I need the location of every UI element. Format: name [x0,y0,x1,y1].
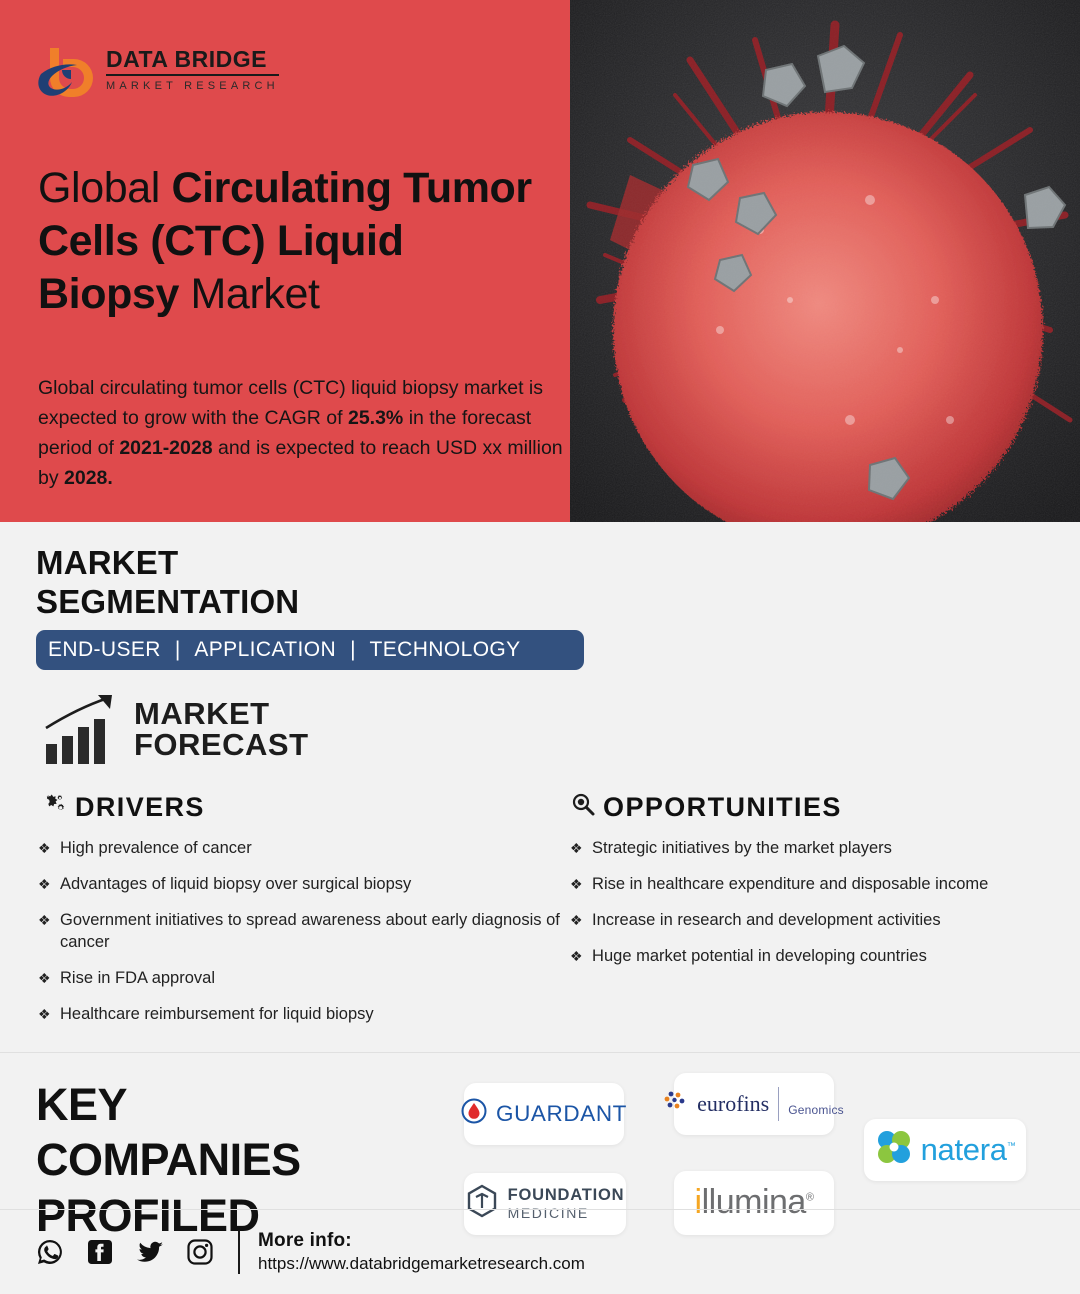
forecast-line1: MARKET [134,698,309,729]
hero-description: Global circulating tumor cells (CTC) liq… [38,373,563,493]
companies-heading-line1: KEY [36,1077,456,1133]
opportunities-list-item: ❖ Rise in healthcare expenditure and dis… [570,874,1044,896]
opportunities-item-text: Huge market potential in developing coun… [592,946,927,968]
segment-application[interactable]: APPLICATION [194,638,336,662]
eurofins-genomics-label: Genomics [788,1103,844,1121]
facebook-icon[interactable] [86,1238,114,1266]
segmentation-heading-line2: SEGMENTATION [36,583,1044,622]
drivers-list-item: ❖ Healthcare reimbursement for liquid bi… [38,1004,562,1026]
footer: More info: https://www.databridgemarketr… [0,1210,1080,1294]
segmentation-bar: END-USER | APPLICATION | TECHNOLOGY [36,630,584,670]
opportunities-item-text: Increase in research and development act… [592,910,941,932]
companies-heading-line2: COMPANIES [36,1132,456,1188]
brand-logo-text: DATA BRIDGE MARKET RESEARCH [106,46,279,92]
bullet-diamond-icon: ❖ [38,874,51,896]
bar-chart-growth-arrow-icon [42,692,124,766]
opportunities-heading-row: OPPORTUNITIES [570,792,1044,823]
market-forecast-block: MARKET FORECAST [36,692,1044,766]
bullet-diamond-icon: ❖ [38,1004,51,1026]
segment-end-user[interactable]: END-USER [48,638,161,662]
opportunities-list-item: ❖ Increase in research and development a… [570,910,1044,932]
hero-left-panel: DATA BRIDGE MARKET RESEARCH Global Circu… [0,0,570,522]
guardant-wordmark: GUARDANT [496,1101,627,1127]
whatsapp-icon[interactable] [36,1238,64,1266]
more-info-label: More info: [258,1229,585,1253]
drivers-item-text: Healthcare reimbursement for liquid biop… [60,1004,374,1026]
bullet-diamond-icon: ❖ [38,968,51,990]
body-section: MARKET SEGMENTATION END-USER | APPLICATI… [0,544,1080,1040]
opportunities-item-text: Rise in healthcare expenditure and dispo… [592,874,988,896]
guardant-droplet-icon [461,1098,487,1129]
drivers-list-item: ❖ Government initiatives to spread aware… [38,910,562,954]
drivers-item-text: Government initiatives to spread awarene… [60,910,562,954]
eurofins-divider [778,1087,779,1121]
hero-image [570,0,1080,522]
gears-icon [38,792,68,823]
drivers-opportunities-row: DRIVERS ❖ High prevalence of cancer ❖ Ad… [36,792,1044,1040]
drivers-item-text: Rise in FDA approval [60,968,215,990]
bullet-diamond-icon: ❖ [38,838,51,860]
twitter-icon[interactable] [136,1238,164,1266]
opportunities-list-item: ❖ Huge market potential in developing co… [570,946,1044,968]
tumor-cell-micrograph [570,0,1080,522]
opportunities-list: ❖ Strategic initiatives by the market pl… [570,838,1044,968]
market-segmentation-block: MARKET SEGMENTATION END-USER | APPLICATI… [36,544,1044,670]
drivers-column: DRIVERS ❖ High prevalence of cancer ❖ Ad… [36,792,562,1040]
databridge-b-logo-icon [38,40,94,98]
drivers-heading: DRIVERS [75,792,205,823]
segmentation-heading-line1: MARKET [36,544,1044,583]
bullet-diamond-icon: ❖ [570,838,583,860]
bullet-diamond-icon: ❖ [570,910,583,932]
brand-logo-title: DATA BRIDGE [106,48,279,76]
magnifier-icon [570,792,596,823]
natera-trademark: ™ [1007,1140,1016,1150]
social-links [36,1238,214,1266]
segment-technology[interactable]: TECHNOLOGY [370,638,521,662]
drivers-list-item: ❖ High prevalence of cancer [38,838,562,860]
foundation-label: FOUNDATION [508,1186,625,1205]
hero-section: DATA BRIDGE MARKET RESEARCH Global Circu… [0,0,1080,522]
brand-logo-subtitle: MARKET RESEARCH [106,80,279,92]
instagram-icon[interactable] [186,1238,214,1266]
footer-separator [238,1230,240,1274]
website-url[interactable]: https://www.databridgemarketresearch.com [258,1253,585,1275]
opportunities-column: OPPORTUNITIES ❖ Strategic initiatives by… [562,792,1044,1040]
bullet-diamond-icon: ❖ [570,874,583,896]
market-segmentation-heading: MARKET SEGMENTATION [36,544,1044,622]
eurofins-dots-icon [664,1089,688,1118]
bullet-diamond-icon: ❖ [570,946,583,968]
bullet-diamond-icon: ❖ [38,910,51,954]
eurofins-wordmark: eurofins [697,1091,769,1117]
footer-info: More info: https://www.databridgemarketr… [258,1229,585,1275]
page-title: Global Circulating Tumor Cells (CTC) Liq… [38,162,536,321]
illumina-registered-mark: ® [806,1192,814,1204]
drivers-item-text: Advantages of liquid biopsy over surgica… [60,874,411,896]
forecast-line2: FORECAST [134,729,309,760]
company-logo-eurofins[interactable]: eurofins Genomics [674,1073,834,1135]
opportunities-item-text: Strategic initiatives by the market play… [592,838,892,860]
company-logo-natera[interactable]: natera™ [864,1119,1026,1181]
brand-logo[interactable]: DATA BRIDGE MARKET RESEARCH [38,38,536,100]
segment-separator-1: | [161,638,194,662]
drivers-item-text: High prevalence of cancer [60,838,252,860]
company-logo-guardant[interactable]: GUARDANT [464,1083,624,1145]
drivers-list-item: ❖ Advantages of liquid biopsy over surgi… [38,874,562,896]
segment-separator-2: | [336,638,369,662]
natera-flower-icon [875,1128,913,1171]
market-forecast-text: MARKET FORECAST [134,698,309,766]
opportunities-list-item: ❖ Strategic initiatives by the market pl… [570,838,1044,860]
opportunities-heading: OPPORTUNITIES [603,792,842,823]
drivers-list-item: ❖ Rise in FDA approval [38,968,562,990]
drivers-list: ❖ High prevalence of cancer ❖ Advantages… [38,838,562,1026]
drivers-heading-row: DRIVERS [38,792,562,823]
natera-wordmark: natera™ [921,1132,1016,1168]
